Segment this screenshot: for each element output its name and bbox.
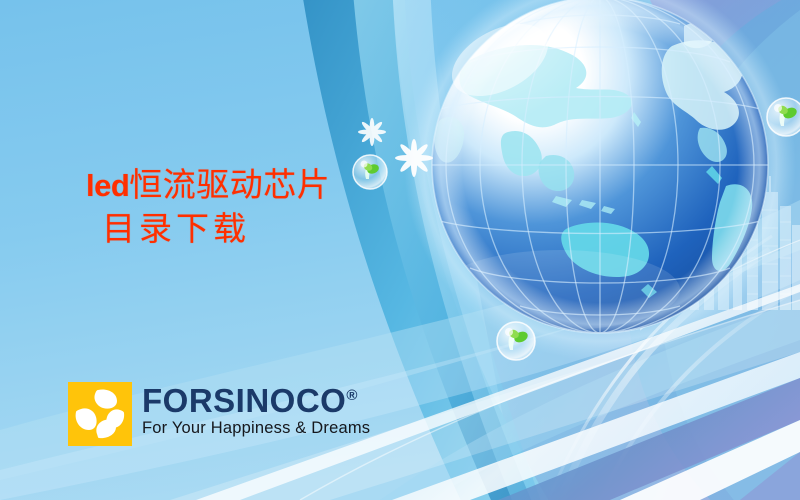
flower-burst-large: [395, 139, 433, 177]
flower-burst-small: [358, 118, 386, 146]
headline-line-2: 目录下载: [102, 209, 330, 253]
logo-text-block: FORSINOCO® For Your Happiness & Dreams: [142, 382, 370, 438]
headline-latin: led: [86, 168, 129, 203]
bubble-sprout-mid: [497, 322, 535, 360]
pinwheel-flower-icon: [68, 382, 132, 446]
company-logo: FORSINOCO® For Your Happiness & Dreams: [68, 382, 370, 446]
headline-text: led恒流驱动芯片 目录下载: [86, 165, 330, 252]
logo-tagline: For Your Happiness & Dreams: [142, 419, 370, 438]
bubble-sprout-top: [353, 155, 387, 189]
logo-wordmark-text: FORSINOCO: [142, 382, 346, 419]
headline-line-1: led恒流驱动芯片: [86, 165, 330, 209]
registered-trademark-icon: ®: [346, 387, 358, 404]
logo-wordmark: FORSINOCO®: [142, 384, 370, 417]
slide-canvas: led恒流驱动芯片 目录下载 FORSINOCO® For Your Happi…: [0, 0, 800, 500]
bubble-sprout-right: [767, 98, 800, 136]
headline-cjk: 恒流驱动芯片: [129, 168, 330, 204]
